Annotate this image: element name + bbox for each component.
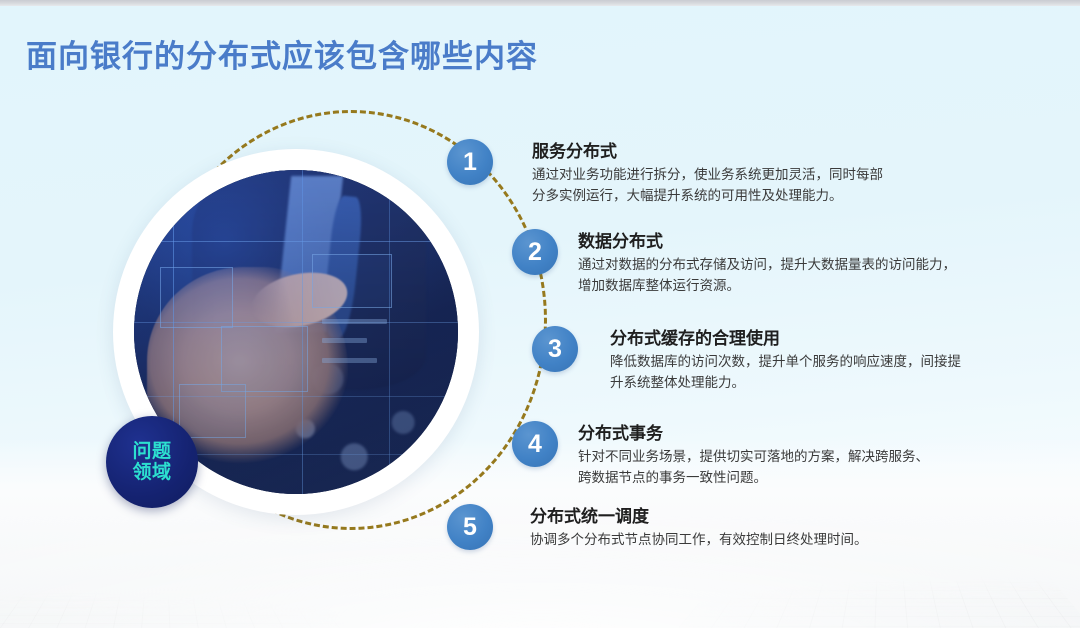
problem-domain-badge: 问题 领域 (106, 416, 198, 508)
top-edge-strip (0, 0, 1080, 6)
step-desc-1: 通过对业务功能进行拆分，使业务系统更加灵活，同时每部 分多实例运行，大幅提升系统… (532, 165, 883, 207)
step-title-5: 分布式统一调度 (530, 506, 868, 527)
step-number-4[interactable]: 4 (512, 421, 558, 467)
step-number-3[interactable]: 3 (532, 326, 578, 372)
step-title-1: 服务分布式 (532, 141, 883, 162)
step-content-5: 分布式统一调度 协调多个分布式节点协同工作，有效控制日终处理时间。 (530, 506, 868, 551)
page-title: 面向银行的分布式应该包含哪些内容 (26, 31, 538, 76)
step-desc-2: 通过对数据的分布式存储及访问，提升大数据量表的访问能力， 增加数据库整体运行资源… (578, 255, 956, 297)
step-content-1: 服务分布式 通过对业务功能进行拆分，使业务系统更加灵活，同时每部 分多实例运行，… (532, 141, 883, 207)
problem-domain-label: 问题 领域 (132, 441, 171, 484)
step-title-2: 数据分布式 (578, 231, 956, 252)
step-content-2: 数据分布式 通过对数据的分布式存储及访问，提升大数据量表的访问能力， 增加数据库… (578, 231, 956, 297)
step-desc-5: 协调多个分布式节点协同工作，有效控制日终处理时间。 (530, 530, 868, 551)
step-number-5[interactable]: 5 (447, 504, 493, 550)
step-desc-4: 针对不同业务场景，提供切实可落地的方案，解决跨服务、 跨数据节点的事务一致性问题… (578, 447, 929, 489)
step-desc-3: 降低数据库的访问次数，提升单个服务的响应速度，间接提 升系统整体处理能力。 (610, 352, 961, 394)
step-number-2[interactable]: 2 (512, 229, 558, 275)
step-content-4: 分布式事务 针对不同业务场景，提供切实可落地的方案，解决跨服务、 跨数据节点的事… (578, 423, 929, 489)
step-title-4: 分布式事务 (578, 423, 929, 444)
step-number-1[interactable]: 1 (447, 139, 493, 185)
step-content-3: 分布式缓存的合理使用 降低数据库的访问次数，提升单个服务的响应速度，间接提 升系… (610, 328, 961, 394)
slide-canvas: 面向银行的分布式应该包含哪些内容 问题 领域 1 服务分布式 通 (0, 0, 1080, 628)
step-title-3: 分布式缓存的合理使用 (610, 328, 961, 349)
